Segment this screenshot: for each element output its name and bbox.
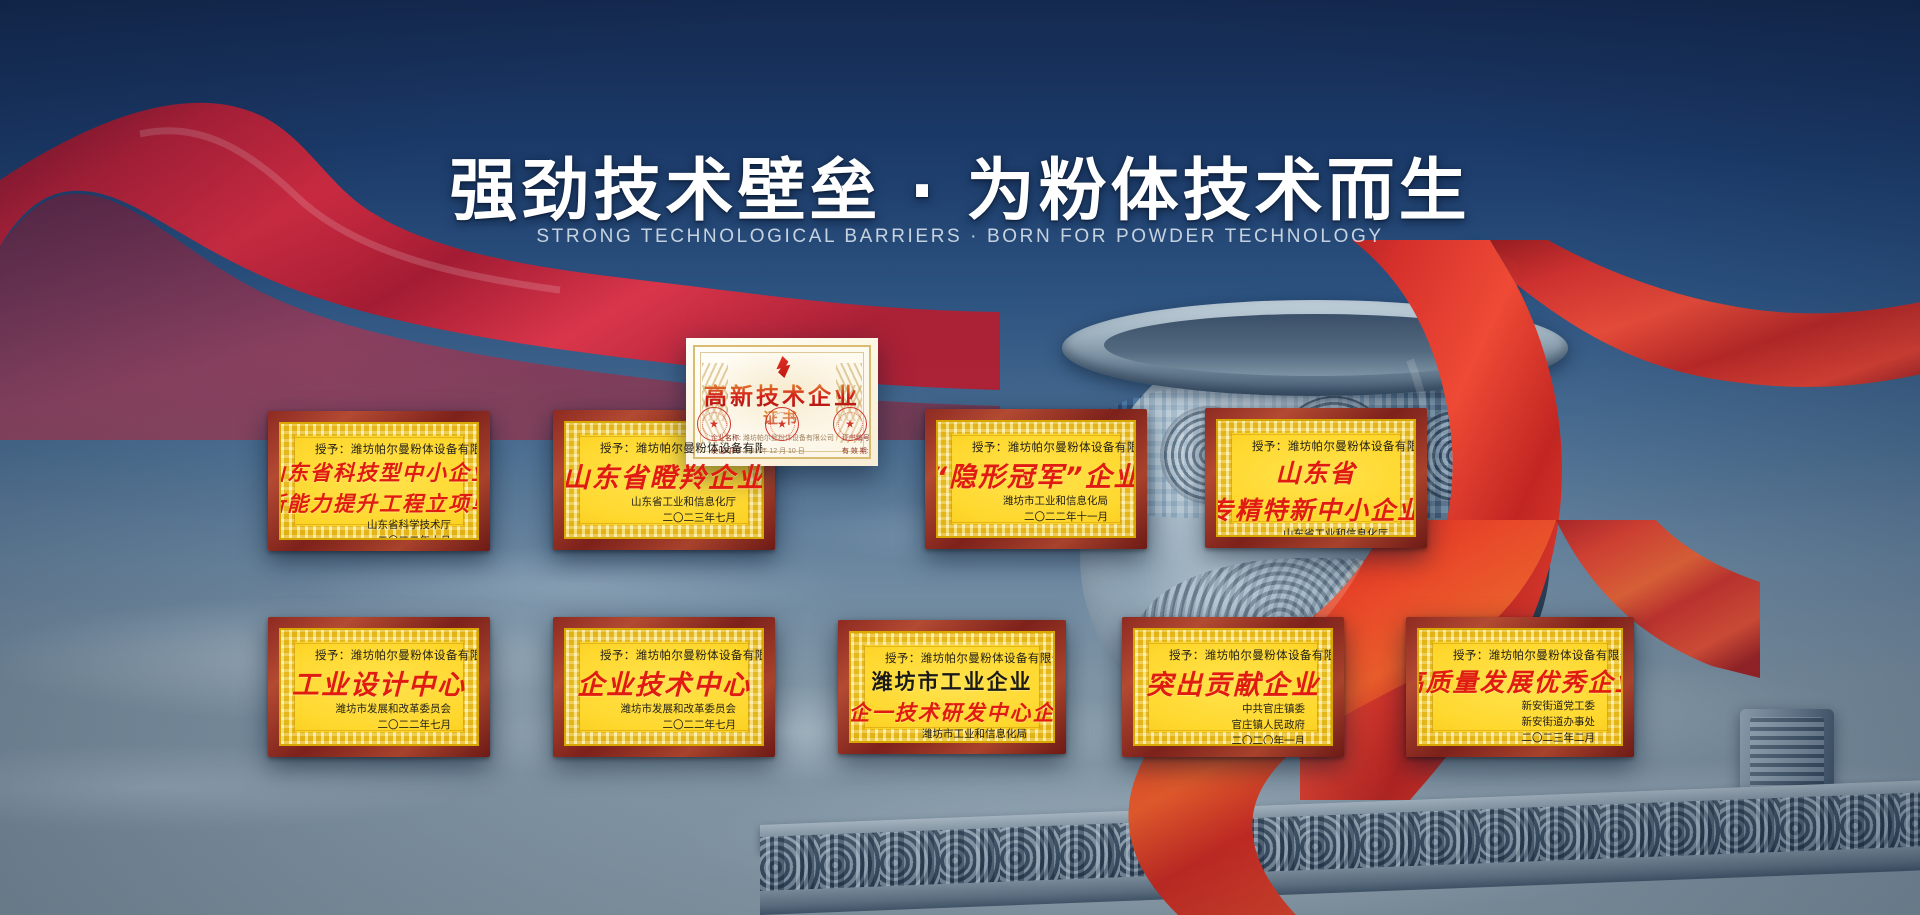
plaque-footer-line: 潍坊市发展和改革委员会 (301, 702, 451, 718)
plaque-grantee: 授予：潍坊帕尔曼粉体设备有限公司 (1155, 647, 1311, 663)
certificate-plaque[interactable]: 授予：潍坊帕尔曼粉体设备有限公司 高质量发展优秀企业 新安街道党工委新安街道办事… (1406, 617, 1634, 757)
official-seal-icon (833, 407, 867, 441)
plaque-issuer-block: 山东省工业和信息化厅二〇二三年七月 (586, 495, 742, 527)
plaque-footer-line: 二〇二三年二月 (1439, 731, 1595, 747)
plaque-issuer-block: 中共官庄镇委官庄镇人民政府二〇二〇年一月 (1155, 702, 1311, 746)
plaque-title: 潍坊市工业企业一企一技术研发中心企业 (871, 666, 1033, 727)
plaque-footer-line: 二〇二三年七月 (586, 511, 736, 527)
plaque-title: “隐形冠军”企业 (958, 455, 1114, 494)
plaque-face: 授予：潍坊帕尔曼粉体设备有限公司 工业设计中心 潍坊市发展和改革委员会二〇二二年… (279, 628, 479, 746)
plaque-footer-line: 山东省工业和信息化厅 (586, 495, 736, 511)
plaque-face: 授予：潍坊帕尔曼粉体设备有限公司 山东省专精特新中小企业 山东省工业和信息化厅 (1216, 419, 1416, 537)
plaque-footer-line: 二〇二二年十月 (301, 534, 451, 540)
plaque-title-line: 山东省瞪羚企业 (564, 456, 764, 495)
plaque-title: 企业技术中心 (586, 663, 742, 702)
plaque-footer-line: 潍坊市工业和信息化局 (958, 494, 1108, 510)
plaque-footer-line: 新安街道办事处 (1439, 715, 1595, 731)
plaque-title-line: 工业设计中心 (292, 663, 466, 702)
certificate-plaque[interactable]: 授予：潍坊帕尔曼粉体设备有限公司 突出贡献企业 中共官庄镇委官庄镇人民政府二〇二… (1122, 617, 1344, 757)
plaque-face: 授予：潍坊帕尔曼粉体设备有限公司 企业技术中心 潍坊市发展和改革委员会二〇二二年… (564, 628, 764, 746)
plaque-title-line: 专精特新中小企业 (1216, 491, 1416, 527)
plaque-issuer-block: 潍坊市工业和信息化局二〇二二年九月 (871, 727, 1033, 743)
plaque-issuer-block: 山东省工业和信息化厅 (1238, 527, 1394, 537)
plaque-title: 工业设计中心 (301, 663, 457, 702)
plaque-title-line: “隐形冠军”企业 (936, 455, 1136, 494)
plaque-issuer-block: 潍坊市工业和信息化局二〇二二年十一月 (958, 494, 1114, 526)
plaque-footer-line: 新安街道党工委 (1439, 699, 1595, 715)
plaque-face: 授予：潍坊帕尔曼粉体设备有限公司 突出贡献企业 中共官庄镇委官庄镇人民政府二〇二… (1133, 628, 1333, 746)
plaque-grantee: 授予：潍坊帕尔曼粉体设备有限公司 (958, 439, 1114, 455)
plaque-grantee: 授予：潍坊帕尔曼粉体设备有限公司 (301, 441, 457, 457)
plaque-footer-line: 二〇二二年十一月 (958, 510, 1108, 526)
plaque-footer-line: 山东省科学技术厅 (301, 518, 451, 534)
plaque-grantee: 授予：潍坊帕尔曼粉体设备有限公司 (586, 647, 742, 663)
plaque-grantee: 授予：潍坊帕尔曼粉体设备有限公司 (1439, 647, 1601, 663)
plaque-footer-line: 官庄镇人民政府 (1155, 718, 1305, 734)
page-title: 强劲技术壁垒 · 为粉体技术而生 (0, 135, 1920, 234)
plaque-title-line: 潍坊市工业企业 (872, 666, 1033, 696)
plaque-footer-line: 中共官庄镇委 (1155, 702, 1305, 718)
banner-stage: 强劲技术壁垒 · 为粉体技术而生 STRONG TECHNOLOGICAL BA… (0, 0, 1920, 915)
plaque-face: 授予：潍坊帕尔曼粉体设备有限公司 山东省瞪羚企业 山东省工业和信息化厅二〇二三年… (564, 421, 764, 539)
plaque-issuer-block: 潍坊市发展和改革委员会二〇二二年七月 (301, 702, 457, 734)
plaque-face: 授予：潍坊帕尔曼粉体设备有限公司 潍坊市工业企业一企一技术研发中心企业 潍坊市工… (849, 631, 1055, 743)
certificate-plaque[interactable]: 授予：潍坊帕尔曼粉体设备有限公司 潍坊市工业企业一企一技术研发中心企业 潍坊市工… (838, 620, 1066, 754)
plaque-footer-line: 二〇二〇年一月 (1155, 734, 1305, 747)
official-seal-icon (765, 407, 799, 441)
field-key: 有 效 期: (842, 448, 869, 455)
certificate-plaque[interactable]: 授予：潍坊帕尔曼粉体设备有限公司 “隐形冠军”企业 潍坊市工业和信息化局二〇二二… (925, 409, 1147, 549)
plaque-title-line: 山东省 (1275, 454, 1356, 490)
certificate-plaque[interactable]: 授予：潍坊帕尔曼粉体设备有限公司 山东省科技型中小企业创新能力提升工程立项单位 … (268, 411, 490, 551)
certificate-field-row: 有 效 期: 三年 (842, 446, 871, 459)
plaque-footer-line: 二〇二二年七月 (586, 718, 736, 734)
plaque-footer-line: 二〇二二年七月 (301, 718, 451, 734)
plaque-title-line: 企业技术中心 (577, 663, 751, 702)
plaque-issuer-block: 潍坊市发展和改革委员会二〇二二年七月 (586, 702, 742, 734)
plaque-face: 授予：潍坊帕尔曼粉体设备有限公司 “隐形冠军”企业 潍坊市工业和信息化局二〇二二… (936, 420, 1136, 538)
plaque-footer-line: 潍坊市工业和信息化局 (871, 727, 1027, 743)
certificate-plaque[interactable]: 授予：潍坊帕尔曼粉体设备有限公司 山东省专精特新中小企业 山东省工业和信息化厅 (1205, 408, 1427, 548)
plaque-title-line: 突出贡献企业 (1146, 663, 1320, 702)
plaque-title-line: 山东省科技型中小企业 (279, 457, 479, 487)
page-subtitle: STRONG TECHNOLOGICAL BARRIERS · BORN FOR… (0, 226, 1920, 248)
plaque-title: 山东省专精特新中小企业 (1238, 454, 1394, 527)
plaque-face: 授予：潍坊帕尔曼粉体设备有限公司 高质量发展优秀企业 新安街道党工委新安街道办事… (1417, 628, 1623, 746)
certificate-plaque[interactable]: 授予：潍坊帕尔曼粉体设备有限公司 企业技术中心 潍坊市发展和改革委员会二〇二二年… (553, 617, 775, 757)
flame-emblem-icon (772, 356, 792, 378)
plaque-title: 山东省瞪羚企业 (586, 456, 742, 495)
plaque-grantee: 授予：潍坊帕尔曼粉体设备有限公司 (586, 440, 742, 456)
plaque-grantee: 授予：潍坊帕尔曼粉体设备有限公司 (1238, 438, 1394, 454)
plaque-title: 山东省科技型中小企业创新能力提升工程立项单位 (301, 457, 457, 518)
plaque-title-line: 高质量发展优秀企业 (1417, 663, 1623, 699)
plaque-grantee: 授予：潍坊帕尔曼粉体设备有限公司 (871, 650, 1033, 666)
plaque-face: 授予：潍坊帕尔曼粉体设备有限公司 山东省科技型中小企业创新能力提升工程立项单位 … (279, 422, 479, 540)
plaque-title: 突出贡献企业 (1155, 663, 1311, 702)
plaque-footer-line: 潍坊市发展和改革委员会 (586, 702, 736, 718)
plaque-title: 高质量发展优秀企业 (1439, 663, 1601, 699)
certificate-title: 高新技术企业 (695, 377, 869, 411)
plaque-title-line: 创新能力提升工程立项单位 (279, 488, 479, 518)
certificate-plaque[interactable]: 授予：潍坊帕尔曼粉体设备有限公司 山东省瞪羚企业 山东省工业和信息化厅二〇二三年… (553, 410, 775, 550)
plaque-grantee: 授予：潍坊帕尔曼粉体设备有限公司 (301, 647, 457, 663)
certificate-plaque[interactable]: 授予：潍坊帕尔曼粉体设备有限公司 工业设计中心 潍坊市发展和改革委员会二〇二二年… (268, 617, 490, 757)
plaque-footer-line: 山东省工业和信息化厅 (1238, 527, 1388, 537)
plaque-issuer-block: 新安街道党工委新安街道办事处二〇二三年二月 (1439, 699, 1601, 746)
plaque-issuer-block: 山东省科学技术厅二〇二二年十月 (301, 518, 457, 540)
plaque-title-line: 一企一技术研发中心企业 (849, 697, 1055, 727)
